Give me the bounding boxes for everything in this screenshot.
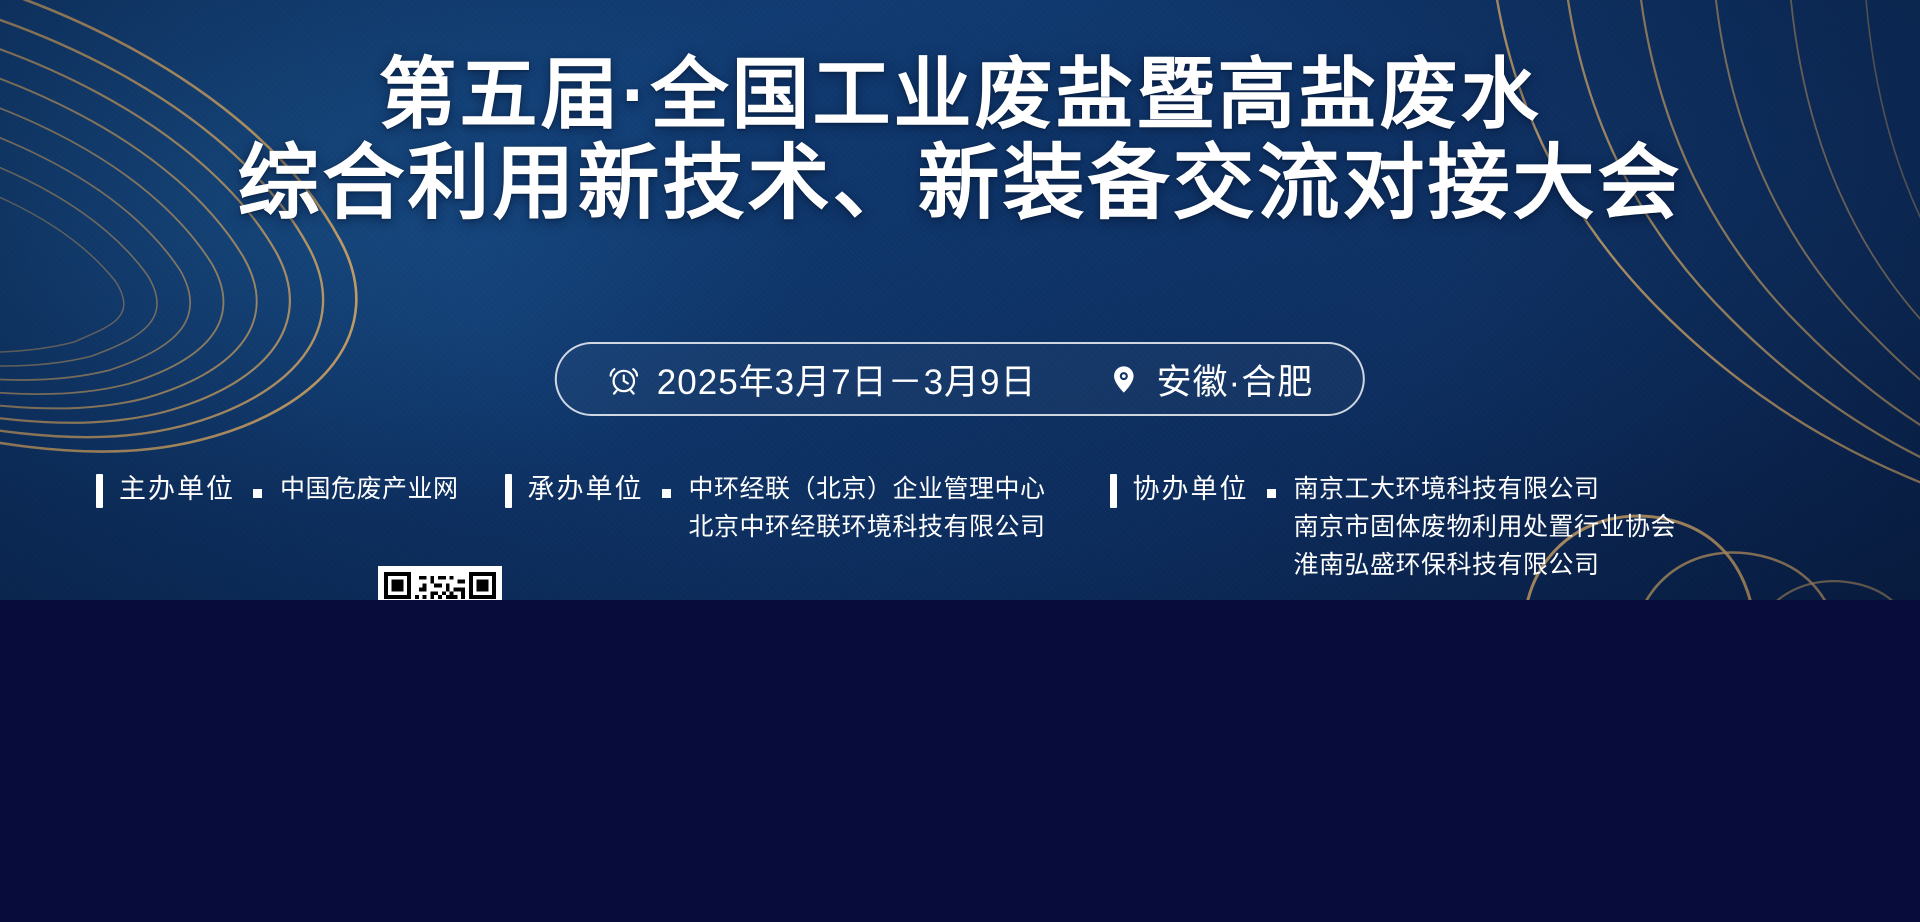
organizer-name: 中国危废产业网 (280, 470, 459, 508)
event-location-text: 安徽·合肥 (1157, 354, 1314, 405)
organizer-names: 中国危废产业网 (280, 470, 459, 508)
title-line-2: 综合利用新技术、新装备交流对接大会 (0, 140, 1920, 229)
organizer-name: 南京市固体废物利用处置行业协会 (1294, 508, 1677, 546)
organizer-list: 主办单位 中国危废产业网 承办单位 中环经联（北京）企业管理中心 北京中环经联环… (96, 470, 1880, 584)
organizer-name: 南京工大环境科技有限公司 (1294, 470, 1677, 508)
organizer-name: 北京中环经联环境科技有限公司 (689, 508, 1046, 546)
page-body-area (0, 600, 1920, 922)
accent-bar (1110, 474, 1117, 508)
organizer-names: 中环经联（北京）企业管理中心 北京中环经联环境科技有限公司 (689, 470, 1046, 546)
banner-title-block: 第五届·全国工业废盐暨高盐废水 综合利用新技术、新装备交流对接大会 (0, 52, 1920, 229)
organizer-name: 淮南弘盛环保科技有限公司 (1294, 546, 1677, 584)
alarm-clock-icon (607, 362, 641, 396)
organizer-label: 协办单位 (1133, 470, 1249, 508)
event-location: 安徽·合肥 (1107, 354, 1314, 405)
organizer-label: 承办单位 (528, 470, 644, 508)
event-date: 2025年3月7日－3月9日 (607, 354, 1037, 405)
organizer-name: 中环经联（北京）企业管理中心 (689, 470, 1046, 508)
organizer-names: 南京工大环境科技有限公司 南京市固体废物利用处置行业协会 淮南弘盛环保科技有限公… (1294, 470, 1677, 584)
bullet-square-icon (662, 489, 671, 498)
organizer-group-host: 主办单位 中国危废产业网 (96, 470, 459, 508)
event-meta-pill: 2025年3月7日－3月9日 安徽·合肥 (555, 342, 1365, 416)
qr-code[interactable] (378, 566, 502, 600)
organizer-group-organizer: 承办单位 中环经联（北京）企业管理中心 北京中环经联环境科技有限公司 (505, 470, 1046, 546)
title-line-1: 第五届·全国工业废盐暨高盐废水 (0, 52, 1920, 136)
map-pin-icon (1107, 362, 1141, 396)
organizer-label: 主办单位 (119, 470, 235, 508)
page-root: 第五届·全国工业废盐暨高盐废水 综合利用新技术、新装备交流对接大会 (0, 0, 1920, 922)
bullet-square-icon (253, 489, 262, 498)
organizer-group-co-organizer: 协办单位 南京工大环境科技有限公司 南京市固体废物利用处置行业协会 淮南弘盛环保… (1110, 470, 1677, 584)
bullet-square-icon (1267, 489, 1276, 498)
accent-bar (96, 474, 103, 508)
accent-bar (505, 474, 512, 508)
event-date-text: 2025年3月7日－3月9日 (657, 354, 1037, 405)
conference-banner: 第五届·全国工业废盐暨高盐废水 综合利用新技术、新装备交流对接大会 (0, 0, 1920, 600)
